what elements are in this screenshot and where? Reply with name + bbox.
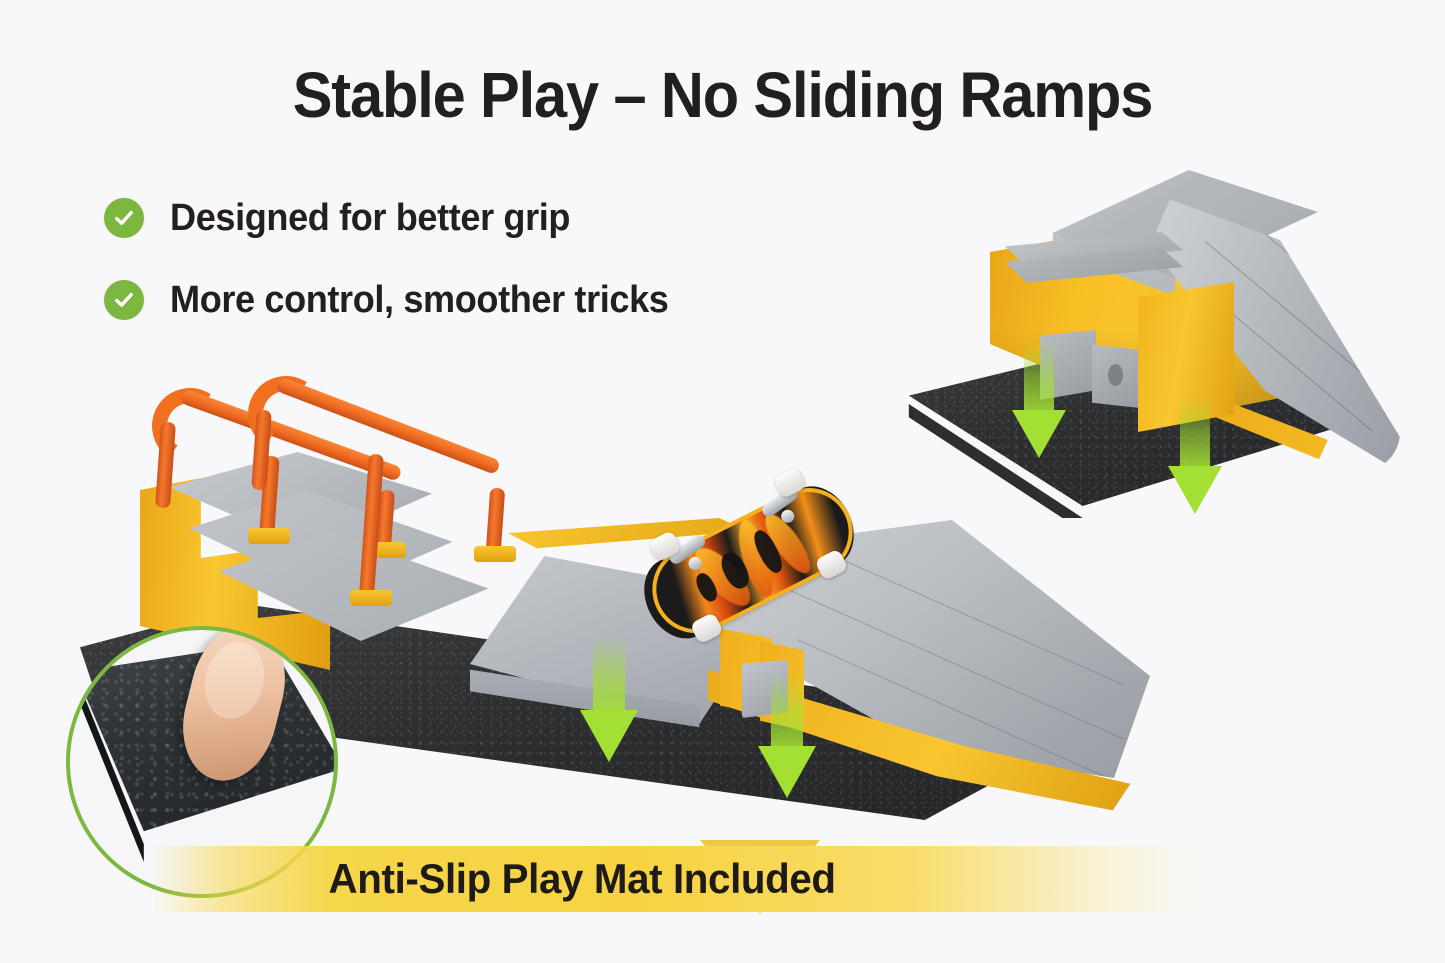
infographic-canvas: Stable Play – No Sliding Ramps Designed … bbox=[0, 0, 1445, 963]
check-circle-icon bbox=[104, 280, 144, 320]
handrail-front bbox=[248, 370, 518, 600]
feature-list: Designed for better grip More control, s… bbox=[104, 190, 695, 354]
list-item: More control, smoother tricks bbox=[104, 272, 695, 328]
grip-arrow-down bbox=[758, 672, 816, 798]
fingernail bbox=[197, 636, 272, 726]
banner-label: Anti-Slip Play Mat Included bbox=[150, 846, 1168, 912]
list-item: Designed for better grip bbox=[104, 190, 695, 246]
check-circle-icon bbox=[104, 198, 144, 238]
feature-label: Designed for better grip bbox=[170, 197, 570, 240]
grip-arrow-down bbox=[580, 636, 638, 762]
feature-label: More control, smoother tricks bbox=[170, 279, 668, 322]
page-title: Stable Play – No Sliding Ramps bbox=[51, 58, 1395, 132]
